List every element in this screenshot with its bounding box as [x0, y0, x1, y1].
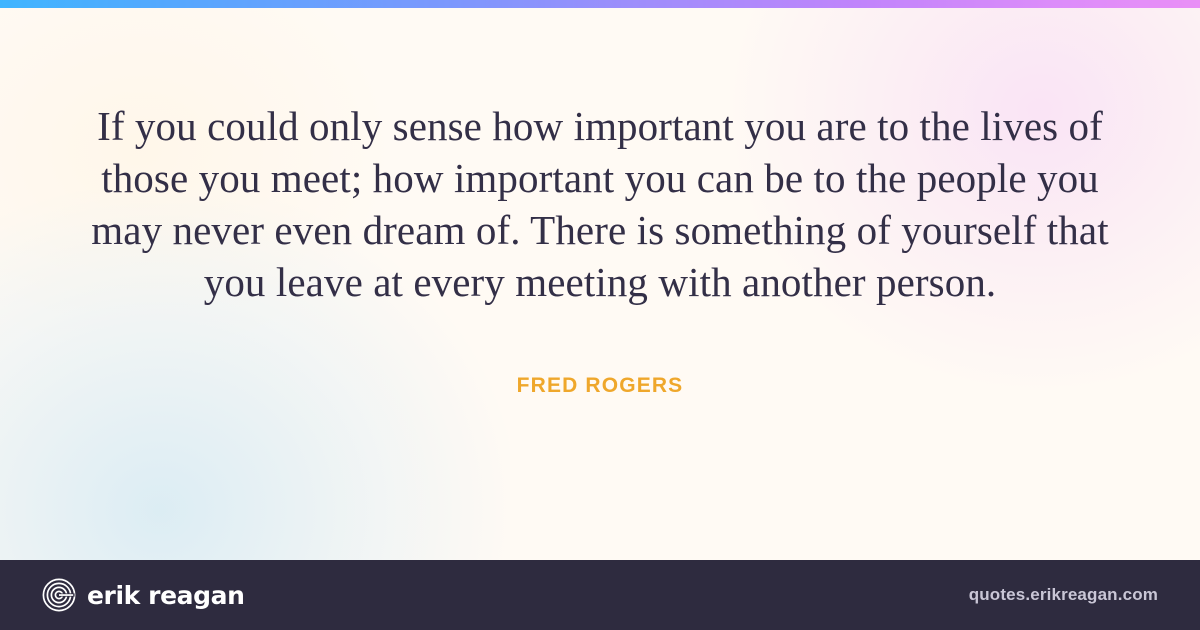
quote-card: If you could only sense how important yo…: [0, 0, 1200, 630]
footer-bar: erik reagan quotes.erikreagan.com: [0, 560, 1200, 630]
quote-text: If you could only sense how important yo…: [80, 100, 1120, 308]
concentric-circles-e-logo-icon: [42, 578, 76, 612]
brand-name-text: erik reagan: [87, 581, 245, 610]
brand-logo[interactable]: erik reagan: [42, 578, 245, 612]
quote-author: FRED ROGERS: [517, 374, 684, 398]
top-gradient-bar: [0, 0, 1200, 8]
quote-content: If you could only sense how important yo…: [0, 8, 1200, 560]
site-url-text[interactable]: quotes.erikreagan.com: [969, 585, 1158, 605]
